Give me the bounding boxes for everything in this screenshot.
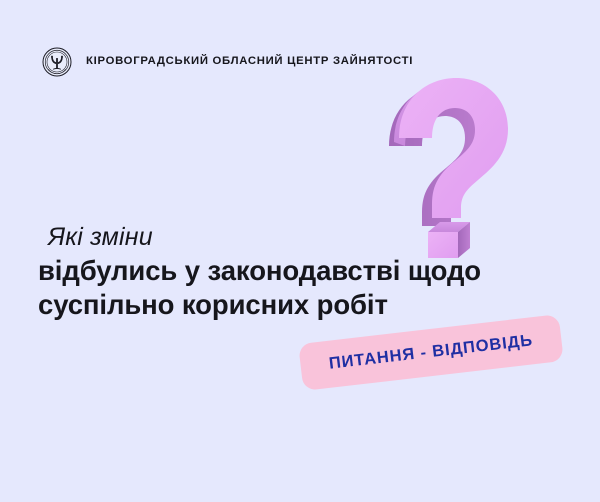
brand-header: КІРОВОГРАДСЬКИЙ ОБЛАСНИЙ ЦЕНТР ЗАЙНЯТОСТ… <box>42 47 413 77</box>
badge-label: ПИТАННЯ - ВІДПОВІДЬ <box>328 333 534 373</box>
status-badge: ПИТАННЯ - ВІДПОВІДЬ <box>298 314 564 391</box>
poster-canvas: КІРОВОГРАДСЬКИЙ ОБЛАСНИЙ ЦЕНТР ЗАЙНЯТОСТ… <box>0 0 600 502</box>
employment-center-emblem-icon <box>42 47 72 77</box>
organization-name: КІРОВОГРАДСЬКИЙ ОБЛАСНИЙ ЦЕНТР ЗАЙНЯТОСТ… <box>86 56 413 67</box>
page-title: відбулись у законодавстві щодо суспільно… <box>38 254 558 322</box>
headline-line-2: суспільно корисних робіт <box>38 288 558 322</box>
headline-block: Які зміни відбулись у законодавстві щодо… <box>38 222 558 322</box>
headline-line-1: відбулись у законодавстві щодо <box>38 254 558 288</box>
headline-kicker: Які зміни <box>48 222 558 252</box>
